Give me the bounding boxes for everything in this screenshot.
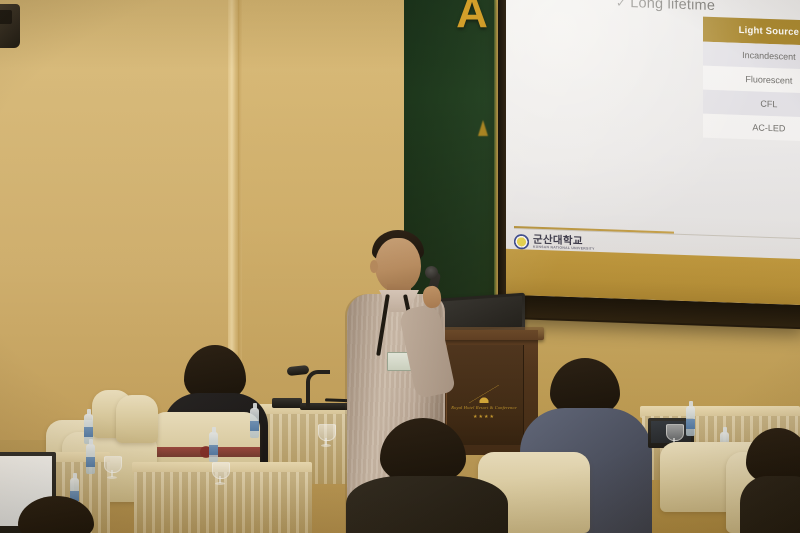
slide-comparison-table: Light Source Co Incandescent Fluorescent… xyxy=(703,17,800,144)
checkmark-icon: ✓ xyxy=(616,0,626,10)
water-bottle xyxy=(686,406,695,436)
glass-bowl xyxy=(104,456,122,473)
university-seal-icon xyxy=(514,234,529,250)
attendee-torso xyxy=(740,476,800,533)
banner-triangle-icon xyxy=(478,120,488,136)
bottle-label xyxy=(686,419,695,429)
water-bottle xyxy=(250,408,259,438)
water-bottle xyxy=(209,432,218,462)
water-bottle xyxy=(86,444,95,474)
banner-letter: A xyxy=(452,0,492,40)
wine-glass xyxy=(104,456,120,480)
crown-icon xyxy=(469,385,499,403)
bottle-label xyxy=(250,421,259,431)
glass-bowl xyxy=(666,424,684,441)
table-row: AC-LED xyxy=(703,114,800,144)
attendee-hair xyxy=(18,496,94,533)
glass-bowl xyxy=(318,424,336,441)
mic-receiver-box xyxy=(272,398,302,408)
hotel-emblem-script: Royal Hotel Resort & Conference xyxy=(451,405,517,412)
slide-bullet-text: Long lifetime xyxy=(630,0,715,14)
wall-speaker-icon xyxy=(0,4,20,48)
glass-foot xyxy=(215,482,225,485)
projector-screen-surface: ✓Long lifetime Light Source Co Incandesc… xyxy=(506,0,800,305)
cell-light-source: AC-LED xyxy=(703,114,800,143)
wine-glass xyxy=(212,462,228,486)
conference-photo-scene: A ✓Long lifetime Light Source Co Incande… xyxy=(0,0,800,533)
bottle-label xyxy=(84,427,93,437)
bottle-label xyxy=(209,445,218,455)
attendee-bottom-left xyxy=(18,496,94,533)
wine-glass xyxy=(318,424,334,448)
attendee-torso xyxy=(346,476,508,533)
presenter-ear xyxy=(370,260,378,273)
attendee-far-right xyxy=(744,428,800,533)
glass-foot xyxy=(321,444,331,447)
chair-cover xyxy=(116,395,158,443)
glass-bowl xyxy=(212,462,230,479)
glass-foot xyxy=(107,476,117,479)
slide-bullet-line: ✓Long lifetime xyxy=(616,0,715,14)
bottle-label xyxy=(86,457,95,467)
attendee-hair xyxy=(380,418,466,484)
gooseneck-microphone-icon xyxy=(306,370,330,408)
attendee-center-foreground xyxy=(352,418,502,533)
